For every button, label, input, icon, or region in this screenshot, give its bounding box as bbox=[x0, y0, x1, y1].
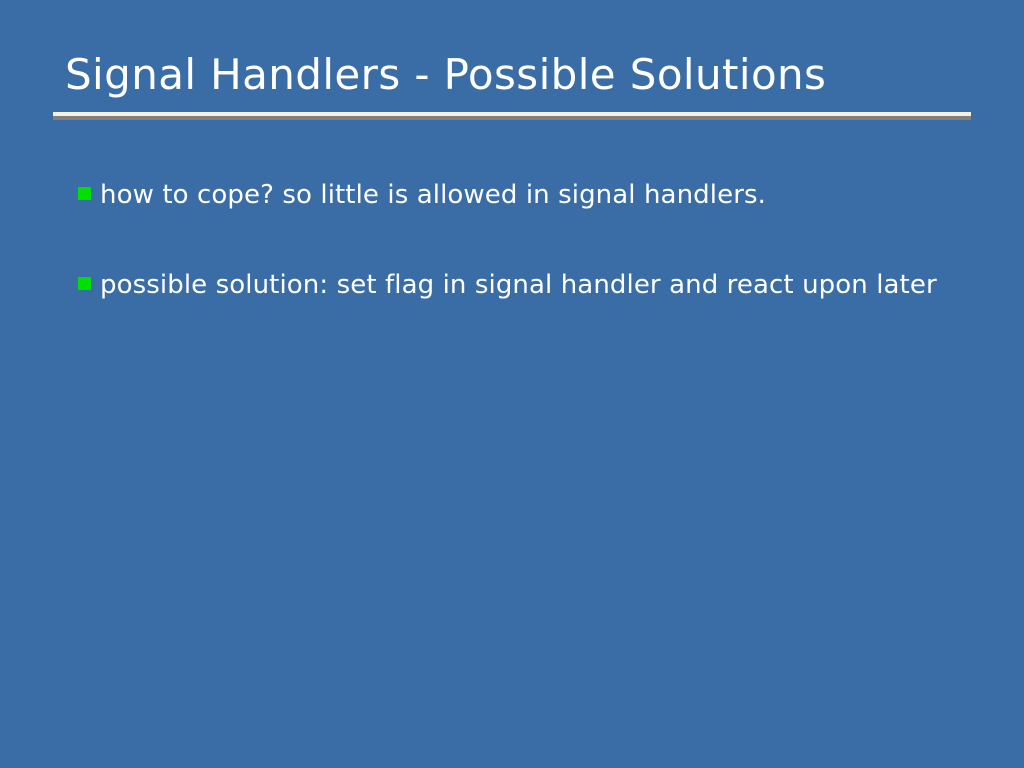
presentation-slide: Signal Handlers - Possible Solutions how… bbox=[0, 0, 1024, 768]
bullet-text: possible solution: set flag in signal ha… bbox=[100, 265, 958, 306]
square-bullet-icon bbox=[78, 277, 91, 290]
slide-body: how to cope? so little is allowed in sig… bbox=[78, 175, 958, 355]
title-underline-shadow bbox=[53, 116, 971, 120]
list-item: possible solution: set flag in signal ha… bbox=[78, 265, 958, 306]
page-title: Signal Handlers - Possible Solutions bbox=[53, 48, 971, 102]
slide-title-block: Signal Handlers - Possible Solutions bbox=[53, 48, 971, 102]
list-item: how to cope? so little is allowed in sig… bbox=[78, 175, 958, 216]
bullet-text: how to cope? so little is allowed in sig… bbox=[100, 175, 958, 216]
square-bullet-icon bbox=[78, 187, 91, 200]
